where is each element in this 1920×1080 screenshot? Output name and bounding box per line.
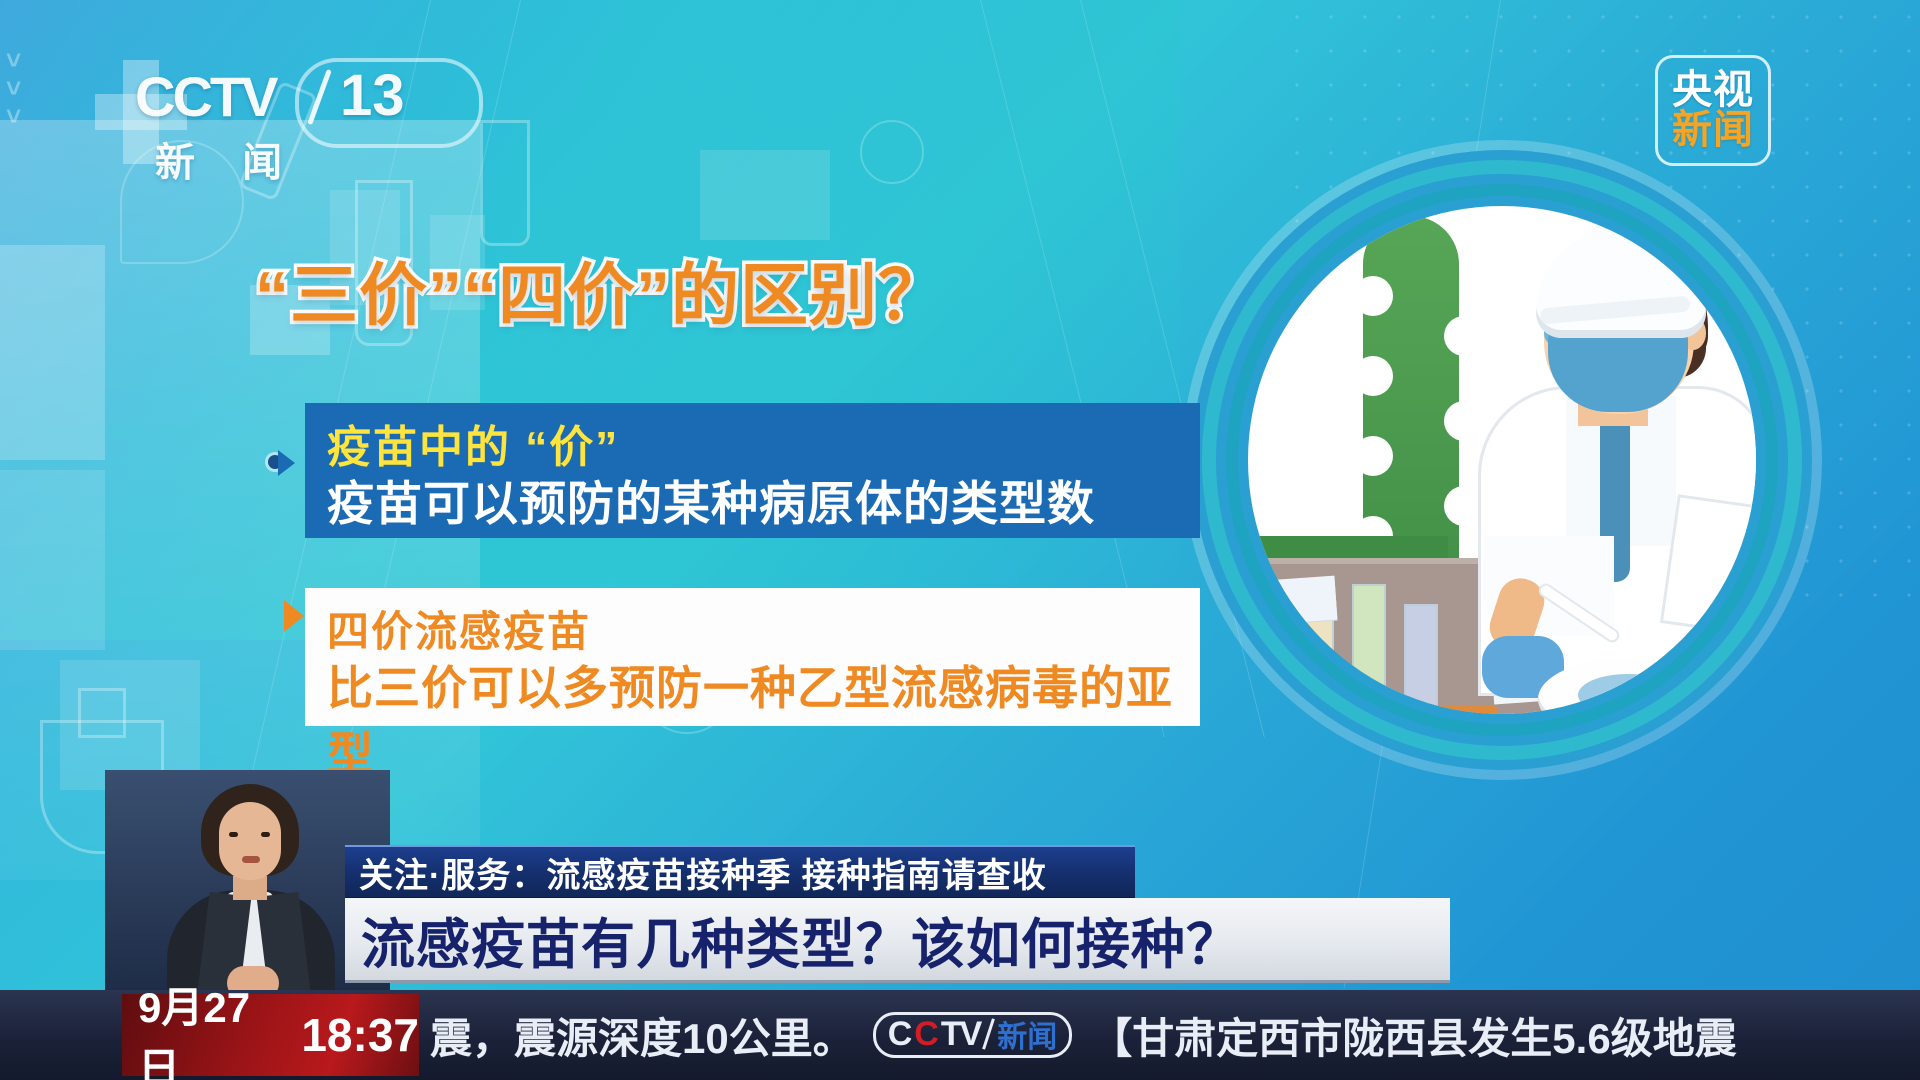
card2-body: 比三价可以多预防一种乙型流感病毒的亚型 [327, 652, 1200, 784]
watermark-line-1: 央视 [1672, 71, 1754, 110]
news-ticker-bar: 9月27日 18:37 震，震源深度10公里。 C C TV 新闻 【甘肃定西市… [0, 990, 1920, 1080]
anchor-eye-left [229, 832, 238, 837]
test-tube-blue [1404, 604, 1438, 714]
anchor-eye-right [261, 832, 270, 837]
paper-sheet [1265, 576, 1338, 625]
test-tube-rack [1288, 706, 1498, 714]
anchor-face [219, 802, 281, 880]
ticker-brand-cn: 新闻 [997, 1012, 1057, 1056]
ticker-time: 18:37 [301, 1008, 419, 1062]
cctv-news-watermark: 央视 新闻 [1655, 55, 1771, 166]
info-card-white: 四价流感疫苗 比三价可以多预防一种乙型流感病毒的亚型 [305, 588, 1200, 726]
channel-subtitle: 新 闻 [155, 130, 300, 188]
card2-heading: 四价流感疫苗 [327, 598, 591, 659]
ticker-text-before: 震，震源深度10公里。 [430, 1005, 855, 1066]
page-title: “三价”“四价”的区别？ [255, 240, 947, 339]
cctv13-channel-logo: CCTV 13 新 闻 [95, 52, 395, 172]
ticker-brand-tv: TV [941, 1015, 980, 1054]
info-card-blue: 疫苗中的 “价” 疫苗可以预防的某种病原体的类型数 [305, 403, 1200, 538]
lower-third-strap: 关注·服务：流感疫苗接种季 接种指南请查收 [345, 845, 1135, 899]
deco-box-1 [0, 245, 105, 460]
watermark-line-2: 新闻 [1672, 111, 1754, 150]
lower-third-headline: 流感疫苗有几种类型？该如何接种？ [345, 898, 1450, 983]
ticker-date: 9月27日 [138, 974, 289, 1080]
card2-triangle-marker-icon [284, 600, 304, 632]
channel-number: 13 [340, 62, 405, 129]
ticker-brand-c1: C [888, 1015, 910, 1054]
ticker-datetime-block: 9月27日 18:37 [122, 994, 419, 1076]
strap-text: 关注·服务：流感疫苗接种季 接种指南请查收 [359, 848, 1047, 897]
arm-right [1660, 494, 1756, 648]
cctv-wordmark: CCTV [135, 64, 275, 129]
illustration-canvas [1248, 206, 1756, 714]
deco-box-7 [700, 150, 830, 240]
ticker-text-after: 【甘肃定西市陇西县发生5.6级地震 [1090, 1005, 1736, 1066]
lab-scientist-illustration [1192, 150, 1812, 770]
card1-triangle-marker-icon [278, 450, 295, 476]
broadcast-screen: ˅ ˅ ˅ CCTV 13 新 闻 央视 新闻 [0, 0, 1920, 1080]
petri-dish-contents [1578, 674, 1678, 714]
anchor-mouth [242, 856, 260, 863]
card1-body: 疫苗可以预防的某种病原体的类型数 [327, 465, 1095, 534]
ticker-brand-slash-icon [982, 1018, 995, 1049]
test-tube-green [1352, 584, 1386, 714]
flask-neck-icon [78, 688, 126, 738]
deco-box-2 [0, 470, 105, 650]
ticker-brand-c2: C [914, 1015, 936, 1054]
cctv-news-ticker-logo: C C TV 新闻 [873, 1012, 1073, 1058]
ticker-message: 震，震源深度10公里。 C C TV 新闻 【甘肃定西市陇西县发生5.6级地震 [430, 990, 1920, 1080]
headline-text: 流感疫苗有几种类型？该如何接种？ [361, 900, 1241, 979]
circle-deco-2 [860, 120, 924, 184]
